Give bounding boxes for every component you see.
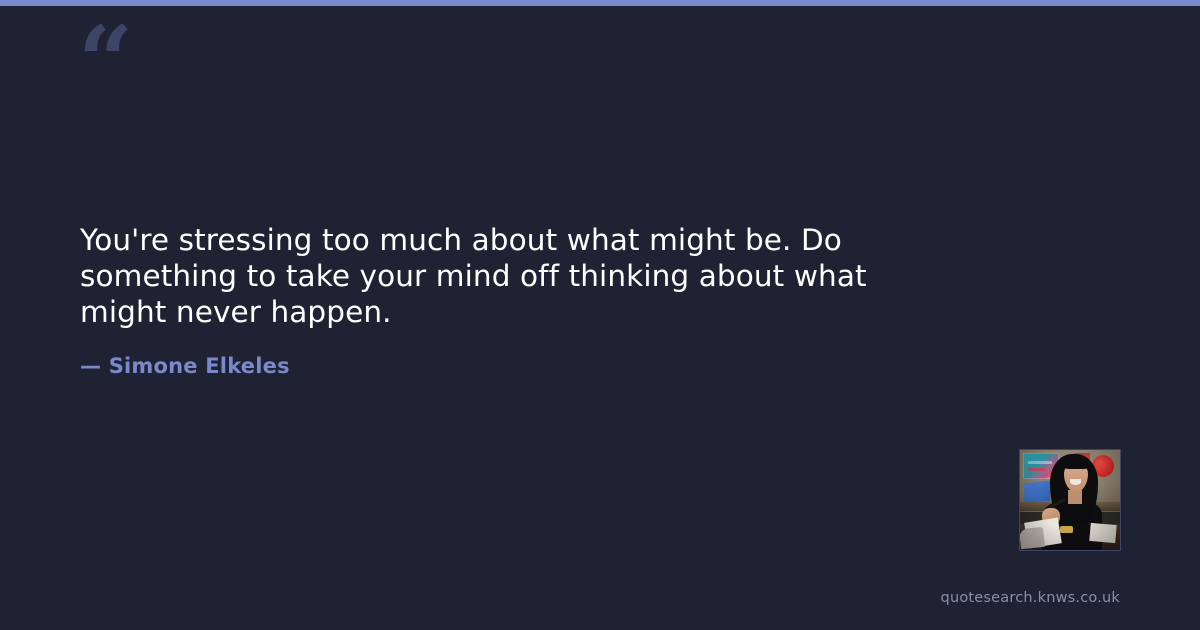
quote-attribution: — Simone Elkeles <box>80 330 960 380</box>
open-quote-mark-icon: “ <box>78 14 131 110</box>
thumbnail-photo-scene <box>1020 450 1120 550</box>
source-watermark: quotesearch.knws.co.uk <box>941 590 1120 606</box>
top-accent-bar <box>0 0 1200 6</box>
author-thumbnail-image[interactable] <box>1020 450 1120 550</box>
photo-vignette <box>1020 450 1120 550</box>
quote-body: You're stressing too much about what mig… <box>80 222 960 380</box>
quote-text: You're stressing too much about what mig… <box>80 222 960 330</box>
quote-card: “ You're stressing too much about what m… <box>0 0 1200 630</box>
